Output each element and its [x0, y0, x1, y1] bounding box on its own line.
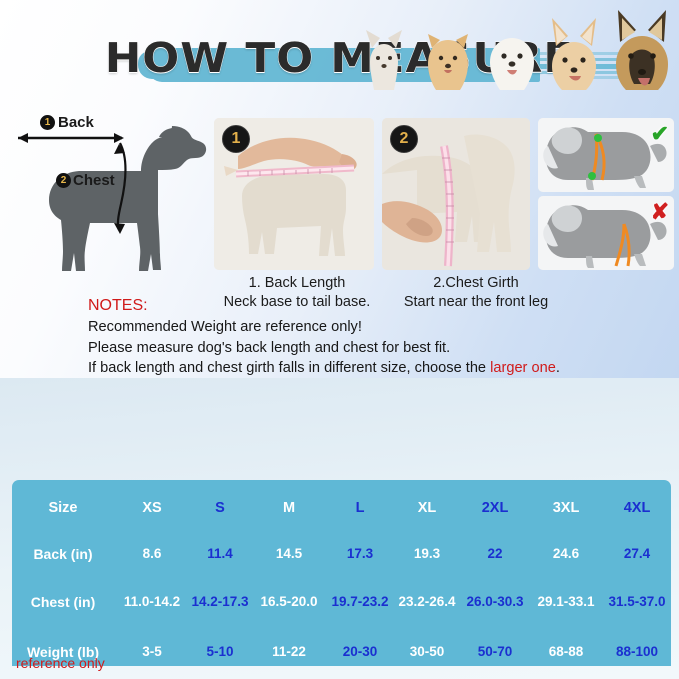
chest-girth-photo: 2 — [382, 118, 530, 270]
back-label: 1 Back — [40, 114, 94, 131]
measurement-diagram: 1 Back 2 Chest — [4, 112, 214, 280]
back-label-text: Back — [58, 114, 94, 131]
notes-block: NOTES: Recommended Weight are reference … — [88, 297, 648, 379]
reference-only-footnote: reference only — [16, 655, 105, 671]
cross-icon: ✘ — [651, 199, 669, 225]
notes-line-3-post: . — [556, 360, 560, 376]
notes-line-3-pre: If back length and chest girth falls in … — [88, 360, 490, 376]
dog-chihuahua — [366, 30, 402, 90]
dog-pomeranian — [428, 34, 468, 90]
dog-german-shepherd — [616, 10, 668, 90]
marker-one: 1 — [40, 115, 55, 130]
notes-line-3: If back length and chest girth falls in … — [88, 358, 648, 379]
dog-corgi — [552, 18, 596, 90]
size-chart-infographic: HOW TO MEASURE 1 Back 2 — [0, 0, 679, 679]
table-cell: 27.4 — [577, 546, 679, 561]
notes-line-1: Recommended Weight are reference only! — [88, 317, 648, 338]
badge-two: 2 — [390, 125, 418, 153]
table-cell: 31.5-37.0 — [577, 594, 679, 609]
marker-two: 2 — [56, 173, 71, 188]
back-measure-arrow-icon — [4, 112, 214, 280]
dog-lineup-photos — [350, 0, 679, 100]
check-icon: ✔ — [651, 121, 669, 147]
badge-one: 1 — [222, 125, 250, 153]
caption-chest-line1: 2.Chest Girth — [386, 274, 566, 293]
notes-heading: NOTES: — [88, 297, 648, 315]
correct-placement-photo: ✔ — [538, 118, 674, 192]
back-length-photo: 1 — [214, 118, 374, 270]
chest-label: 2 Chest — [56, 172, 115, 189]
notes-line-2: Please measure dog's back length and che… — [88, 338, 648, 359]
table-cell: 88-100 — [577, 644, 679, 659]
chest-label-text: Chest — [73, 172, 115, 189]
incorrect-placement-photo: ✘ — [538, 196, 674, 270]
caption-back-line1: 1. Back Length — [214, 274, 380, 293]
notes-line-3-emphasis: larger one — [490, 360, 556, 376]
dog-bichon — [490, 38, 534, 90]
table-header-4xl: 4XL — [577, 500, 679, 516]
